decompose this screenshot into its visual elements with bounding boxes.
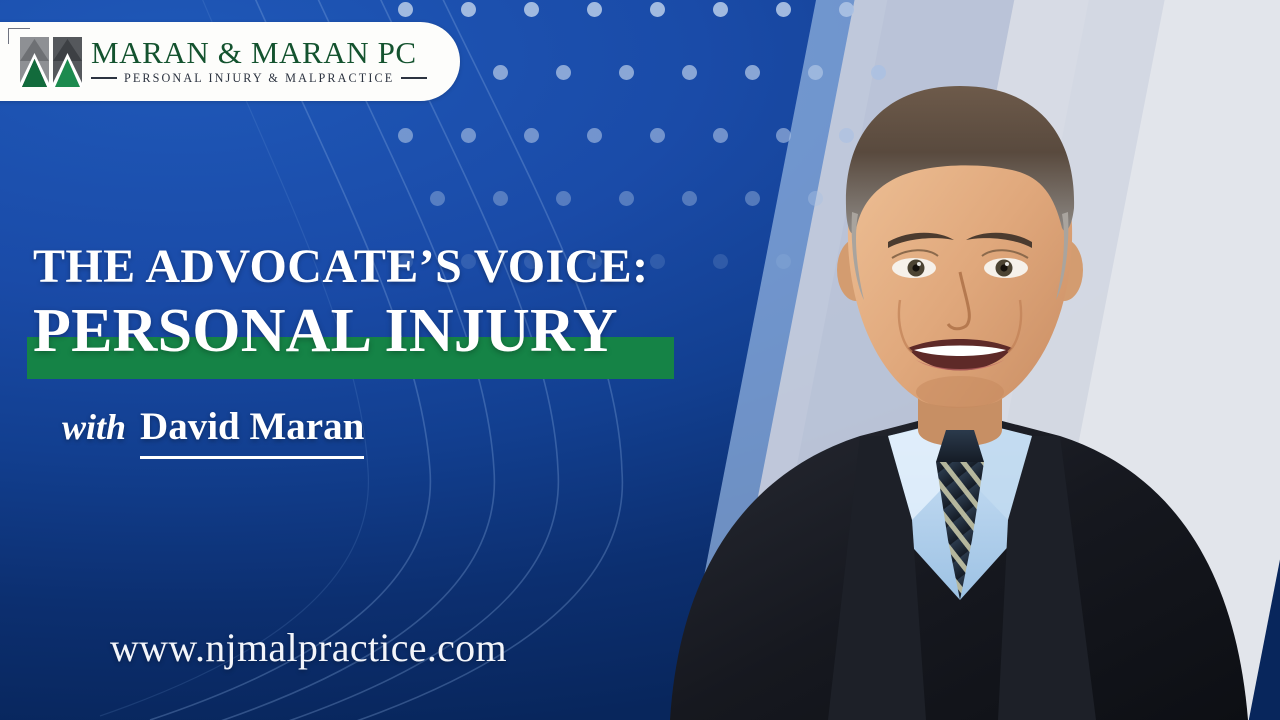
dot-decoration <box>461 128 476 143</box>
corner-bracket-icon <box>8 28 30 44</box>
headline-line-1: THE ADVOCATE’S VOICE: <box>33 243 733 291</box>
website-url[interactable]: www.njmalpractice.com <box>110 624 507 671</box>
brand-name: MARAN & MARAN PC <box>91 37 427 69</box>
headline-line-2: PERSONAL INJURY <box>33 299 733 364</box>
brand-tagline-text: PERSONAL INJURY & MALPRACTICE <box>124 71 394 86</box>
dot-decoration <box>493 65 508 80</box>
headline-line-2-wrapper: PERSONAL INJURY <box>33 299 733 371</box>
podcast-cover-slide: MARAN & MARAN PC PERSONAL INJURY & MALPR… <box>0 0 1280 720</box>
dot-decoration <box>398 128 413 143</box>
tagline-rule-right <box>401 77 427 78</box>
brand-logo-badge[interactable]: MARAN & MARAN PC PERSONAL INJURY & MALPR… <box>0 22 460 101</box>
dot-decoration <box>461 2 476 17</box>
dot-decoration <box>524 128 539 143</box>
dot-decoration <box>398 2 413 17</box>
dot-decoration <box>524 2 539 17</box>
dot-decoration <box>619 191 634 206</box>
dot-decoration <box>493 191 508 206</box>
dot-decoration <box>619 65 634 80</box>
dot-decoration <box>556 191 571 206</box>
dot-decoration <box>587 128 602 143</box>
host-byline: with David Maran <box>62 404 364 459</box>
headline-block: THE ADVOCATE’S VOICE: PERSONAL INJURY <box>33 243 733 371</box>
byline-with-label: with <box>62 406 126 448</box>
host-portrait <box>660 0 1280 720</box>
dot-decoration <box>430 191 445 206</box>
twin-peaks-mark-icon <box>20 37 82 87</box>
tagline-rule-left <box>91 77 117 78</box>
dot-decoration <box>587 2 602 17</box>
dot-decoration <box>556 65 571 80</box>
byline-host-name: David Maran <box>140 404 364 459</box>
brand-tagline: PERSONAL INJURY & MALPRACTICE <box>91 71 427 86</box>
